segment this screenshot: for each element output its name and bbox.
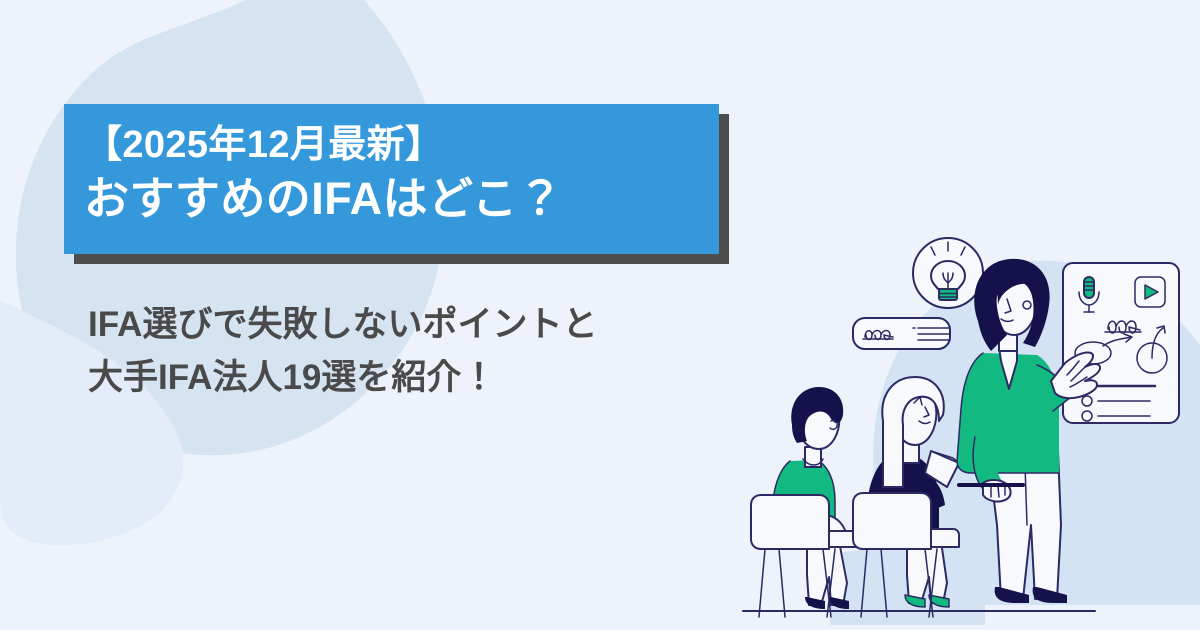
title-line-2: おすすめのIFAはどこ？ bbox=[84, 170, 719, 228]
subtitle-line-2: 大手IFA法人19選を紹介！ bbox=[88, 351, 728, 404]
play-button-icon bbox=[1135, 277, 1165, 307]
subtitle-block: IFA選びで失敗しないポイントと 大手IFA法人19選を紹介！ bbox=[88, 298, 728, 404]
title-line-1: 【2025年12月最新】 bbox=[84, 120, 719, 170]
speech-note-bubble bbox=[853, 318, 950, 349]
idea-bulb-icon bbox=[913, 238, 983, 308]
subtitle-line-1: IFA選びで失敗しないポイントと bbox=[88, 298, 728, 351]
thumbnail-canvas: 【2025年12月最新】 おすすめのIFAはどこ？ IFA選びで失敗しないポイン… bbox=[0, 0, 1200, 630]
title-banner: 【2025年12月最新】 おすすめのIFAはどこ？ bbox=[64, 104, 719, 254]
whiteboard-panel bbox=[1063, 263, 1179, 423]
seated-person-one bbox=[751, 387, 857, 617]
presentation-illustration: .ln { fill:none; stroke:#2b2a63; stroke-… bbox=[735, 225, 1200, 630]
title-banner-box: 【2025年12月最新】 おすすめのIFAはどこ？ bbox=[64, 104, 719, 254]
